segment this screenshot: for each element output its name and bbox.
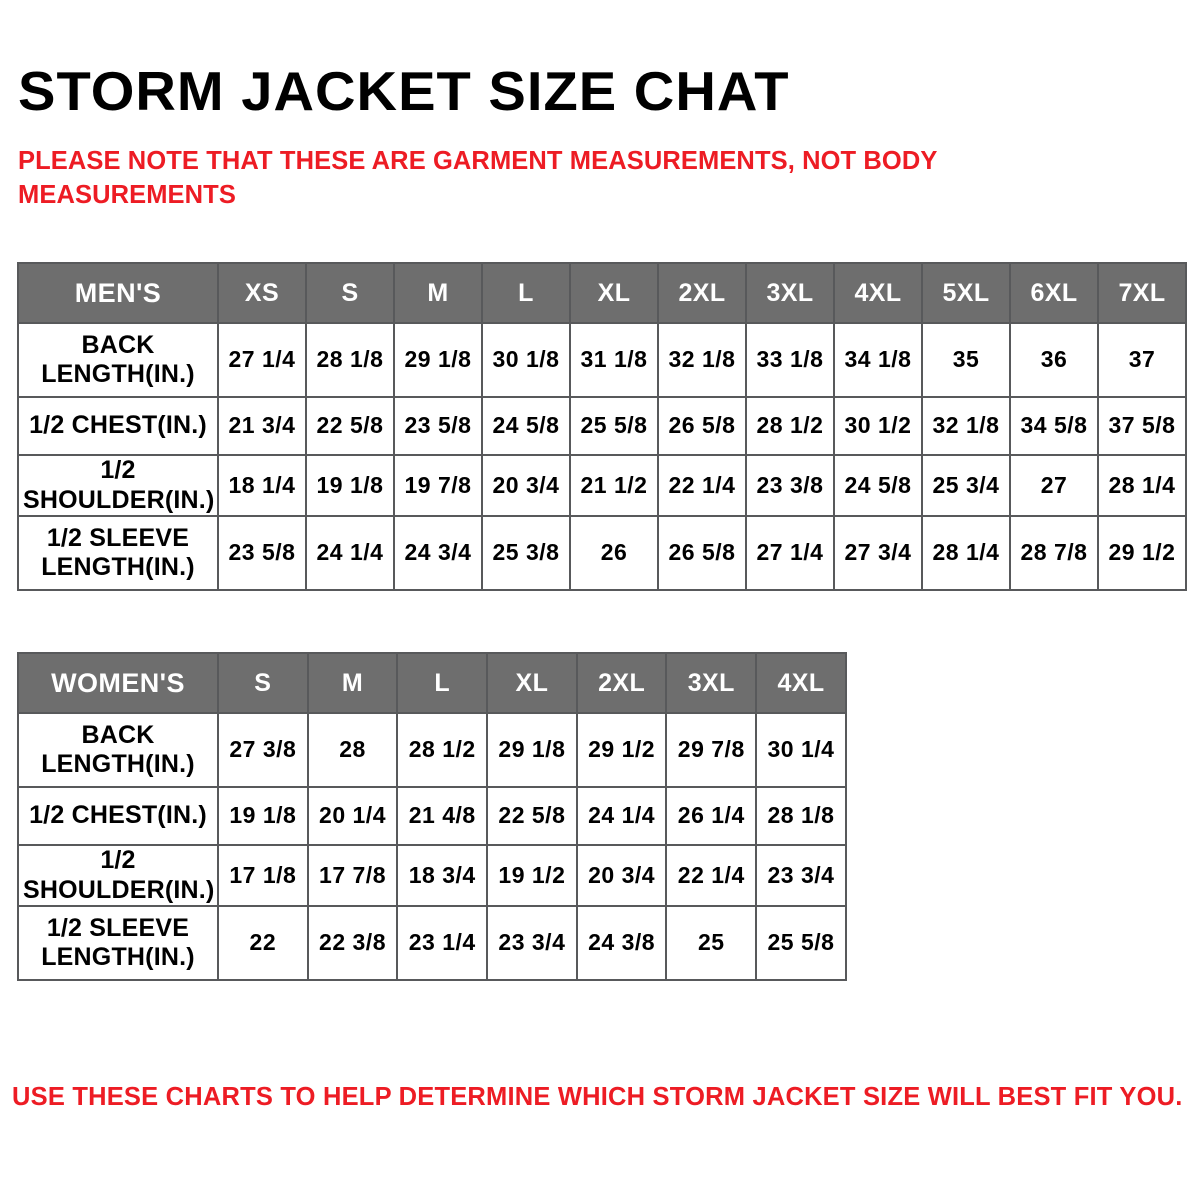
mens-size-header: L	[482, 263, 570, 323]
mens-table-header: MEN'S XS S M L XL 2XL 3XL 4XL 5XL 6XL 7X…	[18, 263, 1186, 323]
table-cell: 22	[218, 906, 308, 980]
table-cell: 25	[666, 906, 756, 980]
mens-size-header: S	[306, 263, 394, 323]
womens-size-table: WOMEN'S S M L XL 2XL 3XL 4XL BACK LENGTH…	[17, 652, 847, 981]
womens-size-header: M	[308, 653, 398, 713]
table-cell: 26 5/8	[658, 397, 746, 455]
table-cell: 22 5/8	[306, 397, 394, 455]
womens-size-header: S	[218, 653, 308, 713]
table-cell: 21 3/4	[218, 397, 306, 455]
table-cell: 22 5/8	[487, 787, 577, 845]
table-cell: 35	[922, 323, 1010, 397]
table-cell: 20 3/4	[482, 455, 570, 516]
table-cell: 28 1/2	[746, 397, 834, 455]
table-cell: 23 5/8	[218, 516, 306, 590]
table-cell: 28 1/2	[397, 713, 487, 787]
mens-corner-label: MEN'S	[18, 263, 218, 323]
table-row: BACK LENGTH(IN.) 27 3/8 28 28 1/2 29 1/8…	[18, 713, 846, 787]
table-cell: 32 1/8	[922, 397, 1010, 455]
mens-size-header: XS	[218, 263, 306, 323]
table-cell: 25 5/8	[756, 906, 846, 980]
table-cell: 26	[570, 516, 658, 590]
table-cell: 32 1/8	[658, 323, 746, 397]
table-cell: 29 1/8	[487, 713, 577, 787]
mens-size-header: 4XL	[834, 263, 922, 323]
table-cell: 23 3/8	[746, 455, 834, 516]
table-cell: 20 3/4	[577, 845, 667, 906]
table-cell: 29 7/8	[666, 713, 756, 787]
womens-header-row: WOMEN'S S M L XL 2XL 3XL 4XL	[18, 653, 846, 713]
table-cell: 24 3/8	[577, 906, 667, 980]
table-cell: 23 5/8	[394, 397, 482, 455]
row-label: 1/2 CHEST(IN.)	[18, 397, 218, 455]
row-label: 1/2 SLEEVE LENGTH(IN.)	[18, 516, 218, 590]
table-cell: 30 1/8	[482, 323, 570, 397]
table-cell: 26 1/4	[666, 787, 756, 845]
mens-size-header: XL	[570, 263, 658, 323]
table-cell: 27 3/4	[834, 516, 922, 590]
table-row: BACK LENGTH(IN.) 27 1/4 28 1/8 29 1/8 30…	[18, 323, 1186, 397]
mens-size-header: 7XL	[1098, 263, 1186, 323]
table-cell: 24 5/8	[834, 455, 922, 516]
table-row: 1/2 CHEST(IN.) 21 3/4 22 5/8 23 5/8 24 5…	[18, 397, 1186, 455]
table-cell: 24 1/4	[306, 516, 394, 590]
row-label: 1/2 SHOULDER(IN.)	[18, 845, 218, 906]
table-cell: 28 1/4	[922, 516, 1010, 590]
table-cell: 31 1/8	[570, 323, 658, 397]
table-cell: 36	[1010, 323, 1098, 397]
table-row: 1/2 CHEST(IN.) 19 1/8 20 1/4 21 4/8 22 5…	[18, 787, 846, 845]
table-cell: 18 3/4	[397, 845, 487, 906]
row-label: 1/2 CHEST(IN.)	[18, 787, 218, 845]
table-cell: 30 1/2	[834, 397, 922, 455]
table-cell: 21 4/8	[397, 787, 487, 845]
table-cell: 25 5/8	[570, 397, 658, 455]
table-cell: 28	[308, 713, 398, 787]
table-row: 1/2 SLEEVE LENGTH(IN.) 23 5/8 24 1/4 24 …	[18, 516, 1186, 590]
mens-table-body: BACK LENGTH(IN.) 27 1/4 28 1/8 29 1/8 30…	[18, 323, 1186, 590]
table-cell: 24 1/4	[577, 787, 667, 845]
table-row: 1/2 SLEEVE LENGTH(IN.) 22 22 3/8 23 1/4 …	[18, 906, 846, 980]
table-cell: 24 3/4	[394, 516, 482, 590]
table-cell: 19 1/8	[218, 787, 308, 845]
table-cell: 18 1/4	[218, 455, 306, 516]
row-label: BACK LENGTH(IN.)	[18, 323, 218, 397]
table-row: 1/2 SHOULDER(IN.) 18 1/4 19 1/8 19 7/8 2…	[18, 455, 1186, 516]
table-cell: 30 1/4	[756, 713, 846, 787]
table-cell: 28 7/8	[1010, 516, 1098, 590]
page-title: STORM JACKET SIZE CHAT	[18, 63, 790, 121]
womens-size-header: 2XL	[577, 653, 667, 713]
table-cell: 25 3/8	[482, 516, 570, 590]
table-cell: 33 1/8	[746, 323, 834, 397]
mens-size-header: 2XL	[658, 263, 746, 323]
table-cell: 27 3/8	[218, 713, 308, 787]
table-cell: 29 1/2	[577, 713, 667, 787]
table-cell: 28 1/8	[306, 323, 394, 397]
table-cell: 29 1/2	[1098, 516, 1186, 590]
table-cell: 17 7/8	[308, 845, 398, 906]
mens-size-table: MEN'S XS S M L XL 2XL 3XL 4XL 5XL 6XL 7X…	[17, 262, 1187, 591]
table-cell: 26 5/8	[658, 516, 746, 590]
row-label: BACK LENGTH(IN.)	[18, 713, 218, 787]
womens-table-header: WOMEN'S S M L XL 2XL 3XL 4XL	[18, 653, 846, 713]
size-chart-page: STORM JACKET SIZE CHAT PLEASE NOTE THAT …	[0, 0, 1200, 1200]
womens-size-header: L	[397, 653, 487, 713]
table-cell: 27	[1010, 455, 1098, 516]
table-row: 1/2 SHOULDER(IN.) 17 1/8 17 7/8 18 3/4 1…	[18, 845, 846, 906]
table-cell: 34 1/8	[834, 323, 922, 397]
womens-size-header: XL	[487, 653, 577, 713]
mens-size-header: M	[394, 263, 482, 323]
table-cell: 19 1/2	[487, 845, 577, 906]
table-cell: 23 3/4	[487, 906, 577, 980]
table-cell: 23 1/4	[397, 906, 487, 980]
mens-size-header: 3XL	[746, 263, 834, 323]
table-cell: 19 1/8	[306, 455, 394, 516]
table-cell: 27 1/4	[746, 516, 834, 590]
mens-size-header: 5XL	[922, 263, 1010, 323]
table-cell: 22 3/8	[308, 906, 398, 980]
womens-table-body: BACK LENGTH(IN.) 27 3/8 28 28 1/2 29 1/8…	[18, 713, 846, 980]
garment-measurement-note: PLEASE NOTE THAT THESE ARE GARMENT MEASU…	[18, 144, 978, 213]
table-cell: 27 1/4	[218, 323, 306, 397]
table-cell: 25 3/4	[922, 455, 1010, 516]
table-cell: 24 5/8	[482, 397, 570, 455]
womens-corner-label: WOMEN'S	[18, 653, 218, 713]
mens-header-row: MEN'S XS S M L XL 2XL 3XL 4XL 5XL 6XL 7X…	[18, 263, 1186, 323]
table-cell: 17 1/8	[218, 845, 308, 906]
womens-size-header: 3XL	[666, 653, 756, 713]
table-cell: 20 1/4	[308, 787, 398, 845]
table-cell: 28 1/4	[1098, 455, 1186, 516]
table-cell: 28 1/8	[756, 787, 846, 845]
row-label: 1/2 SLEEVE LENGTH(IN.)	[18, 906, 218, 980]
table-cell: 21 1/2	[570, 455, 658, 516]
table-cell: 37	[1098, 323, 1186, 397]
table-cell: 23 3/4	[756, 845, 846, 906]
table-cell: 37 5/8	[1098, 397, 1186, 455]
table-cell: 22 1/4	[666, 845, 756, 906]
table-cell: 29 1/8	[394, 323, 482, 397]
table-cell: 34 5/8	[1010, 397, 1098, 455]
row-label: 1/2 SHOULDER(IN.)	[18, 455, 218, 516]
womens-size-header: 4XL	[756, 653, 846, 713]
table-cell: 19 7/8	[394, 455, 482, 516]
table-cell: 22 1/4	[658, 455, 746, 516]
usage-note: USE THESE CHARTS TO HELP DETERMINE WHICH…	[12, 1083, 1183, 1112]
mens-size-header: 6XL	[1010, 263, 1098, 323]
